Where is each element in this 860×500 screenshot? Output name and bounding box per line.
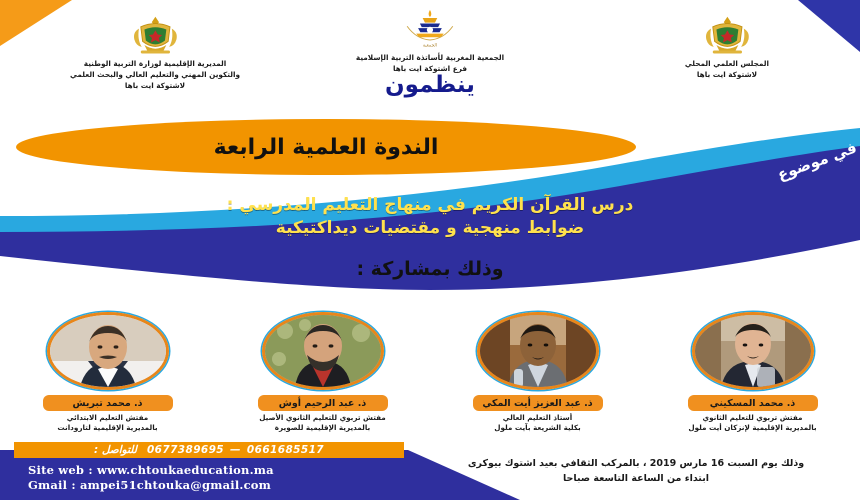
poster-canvas: المديرية الإقليمية لوزارة التربية الوطني… [0, 0, 860, 500]
event-date-venue: وذلك يوم السبت 16 مارس 2019 ، بالمركب ال… [468, 458, 804, 469]
participation-line: وذلك بمشاركة : [0, 258, 860, 280]
speaker-card: ذ. محمد المسكيني مفتش تربوي للتعليم الثا… [655, 312, 851, 434]
topic-text: درس القرآن الكريم في منهاج التعليم المدر… [0, 194, 860, 240]
svg-text:الجمعية: الجمعية [423, 43, 437, 48]
contact-label: للتواصل : [94, 444, 137, 456]
speaker-card: ذ. عبد الرحيم أوش مفتش تربوي للتعليم الث… [225, 312, 421, 434]
symposium-title: الندوة العلمية الرابعة [214, 135, 439, 160]
web-contact-lines: Site web : www.chtoukaeducation.ma Gmail… [28, 463, 448, 494]
topic-line-1: درس القرآن الكريم في منهاج التعليم المدر… [227, 195, 634, 215]
gmail-line[interactable]: Gmail : ampei51chtouka@gmail.com [28, 478, 448, 494]
speaker-photo [477, 312, 599, 390]
site-web-line[interactable]: Site web : www.chtoukaeducation.ma [28, 463, 448, 479]
portrait-photo-icon [695, 315, 811, 387]
topic-line-2: ضوابط منهجية و مقتضيات ديداكتيكية [60, 217, 800, 240]
speaker-name: ذ. محمد المسكيني [688, 395, 818, 411]
contact-phone-1: 0677389695 [147, 444, 224, 456]
portrait-photo-icon [50, 315, 166, 387]
contact-bar: 0661685517 — 0677389695 للتواصل : [14, 442, 404, 458]
portrait-photo-icon [480, 315, 596, 387]
speaker-role: مفتش تربوي للتعليم الثانوي بالمديرية الإ… [655, 413, 851, 434]
speaker-photo [692, 312, 814, 390]
portrait-photo-icon [265, 315, 381, 387]
association-emblem-icon: الجمعية [398, 8, 462, 50]
morocco-coat-of-arms-icon [128, 14, 183, 56]
logo-block-scientific-council: المجلس العلمي المحلي لاشتوكة ايت باها [612, 14, 842, 81]
speaker-name: ذ. عبد الرحيم أوش [258, 395, 388, 411]
logo-block-association: الجمعية الجمعية المغربية لأساتذة التربية… [296, 8, 564, 75]
speaker-role: مفتش تربوي للتعليم الثانوي الأصيل بالمدي… [225, 413, 421, 434]
organizers-word: ينظمون [0, 72, 860, 98]
speaker-name: ذ. عبد العزيز أيت المكي [473, 395, 603, 411]
symposium-title-banner: الندوة العلمية الرابعة [16, 119, 636, 175]
speaker-name: ذ. محمد تبريش [43, 395, 173, 411]
phone-separator: — [230, 444, 241, 456]
morocco-coat-of-arms-icon [700, 14, 755, 56]
event-time: ابتداء من الساعة التاسعة صباحا [426, 471, 846, 486]
event-details: وذلك يوم السبت 16 مارس 2019 ، بالمركب ال… [426, 456, 846, 486]
contact-phone-2: 0661685517 [247, 444, 324, 456]
speaker-photo [47, 312, 169, 390]
speaker-card: ذ. محمد تبريش مفتش التعليم الابتدائي بال… [10, 312, 206, 434]
speaker-role: أستاذ التعليم العالي بكلية الشريعة بآيت … [440, 413, 636, 434]
speaker-role: مفتش التعليم الابتدائي بالمديرية الإقليم… [10, 413, 206, 434]
speakers-row: ذ. محمد تبريش مفتش التعليم الابتدائي بال… [0, 312, 860, 434]
speaker-card: ذ. عبد العزيز أيت المكي أستاذ التعليم ال… [440, 312, 636, 434]
speaker-photo [262, 312, 384, 390]
